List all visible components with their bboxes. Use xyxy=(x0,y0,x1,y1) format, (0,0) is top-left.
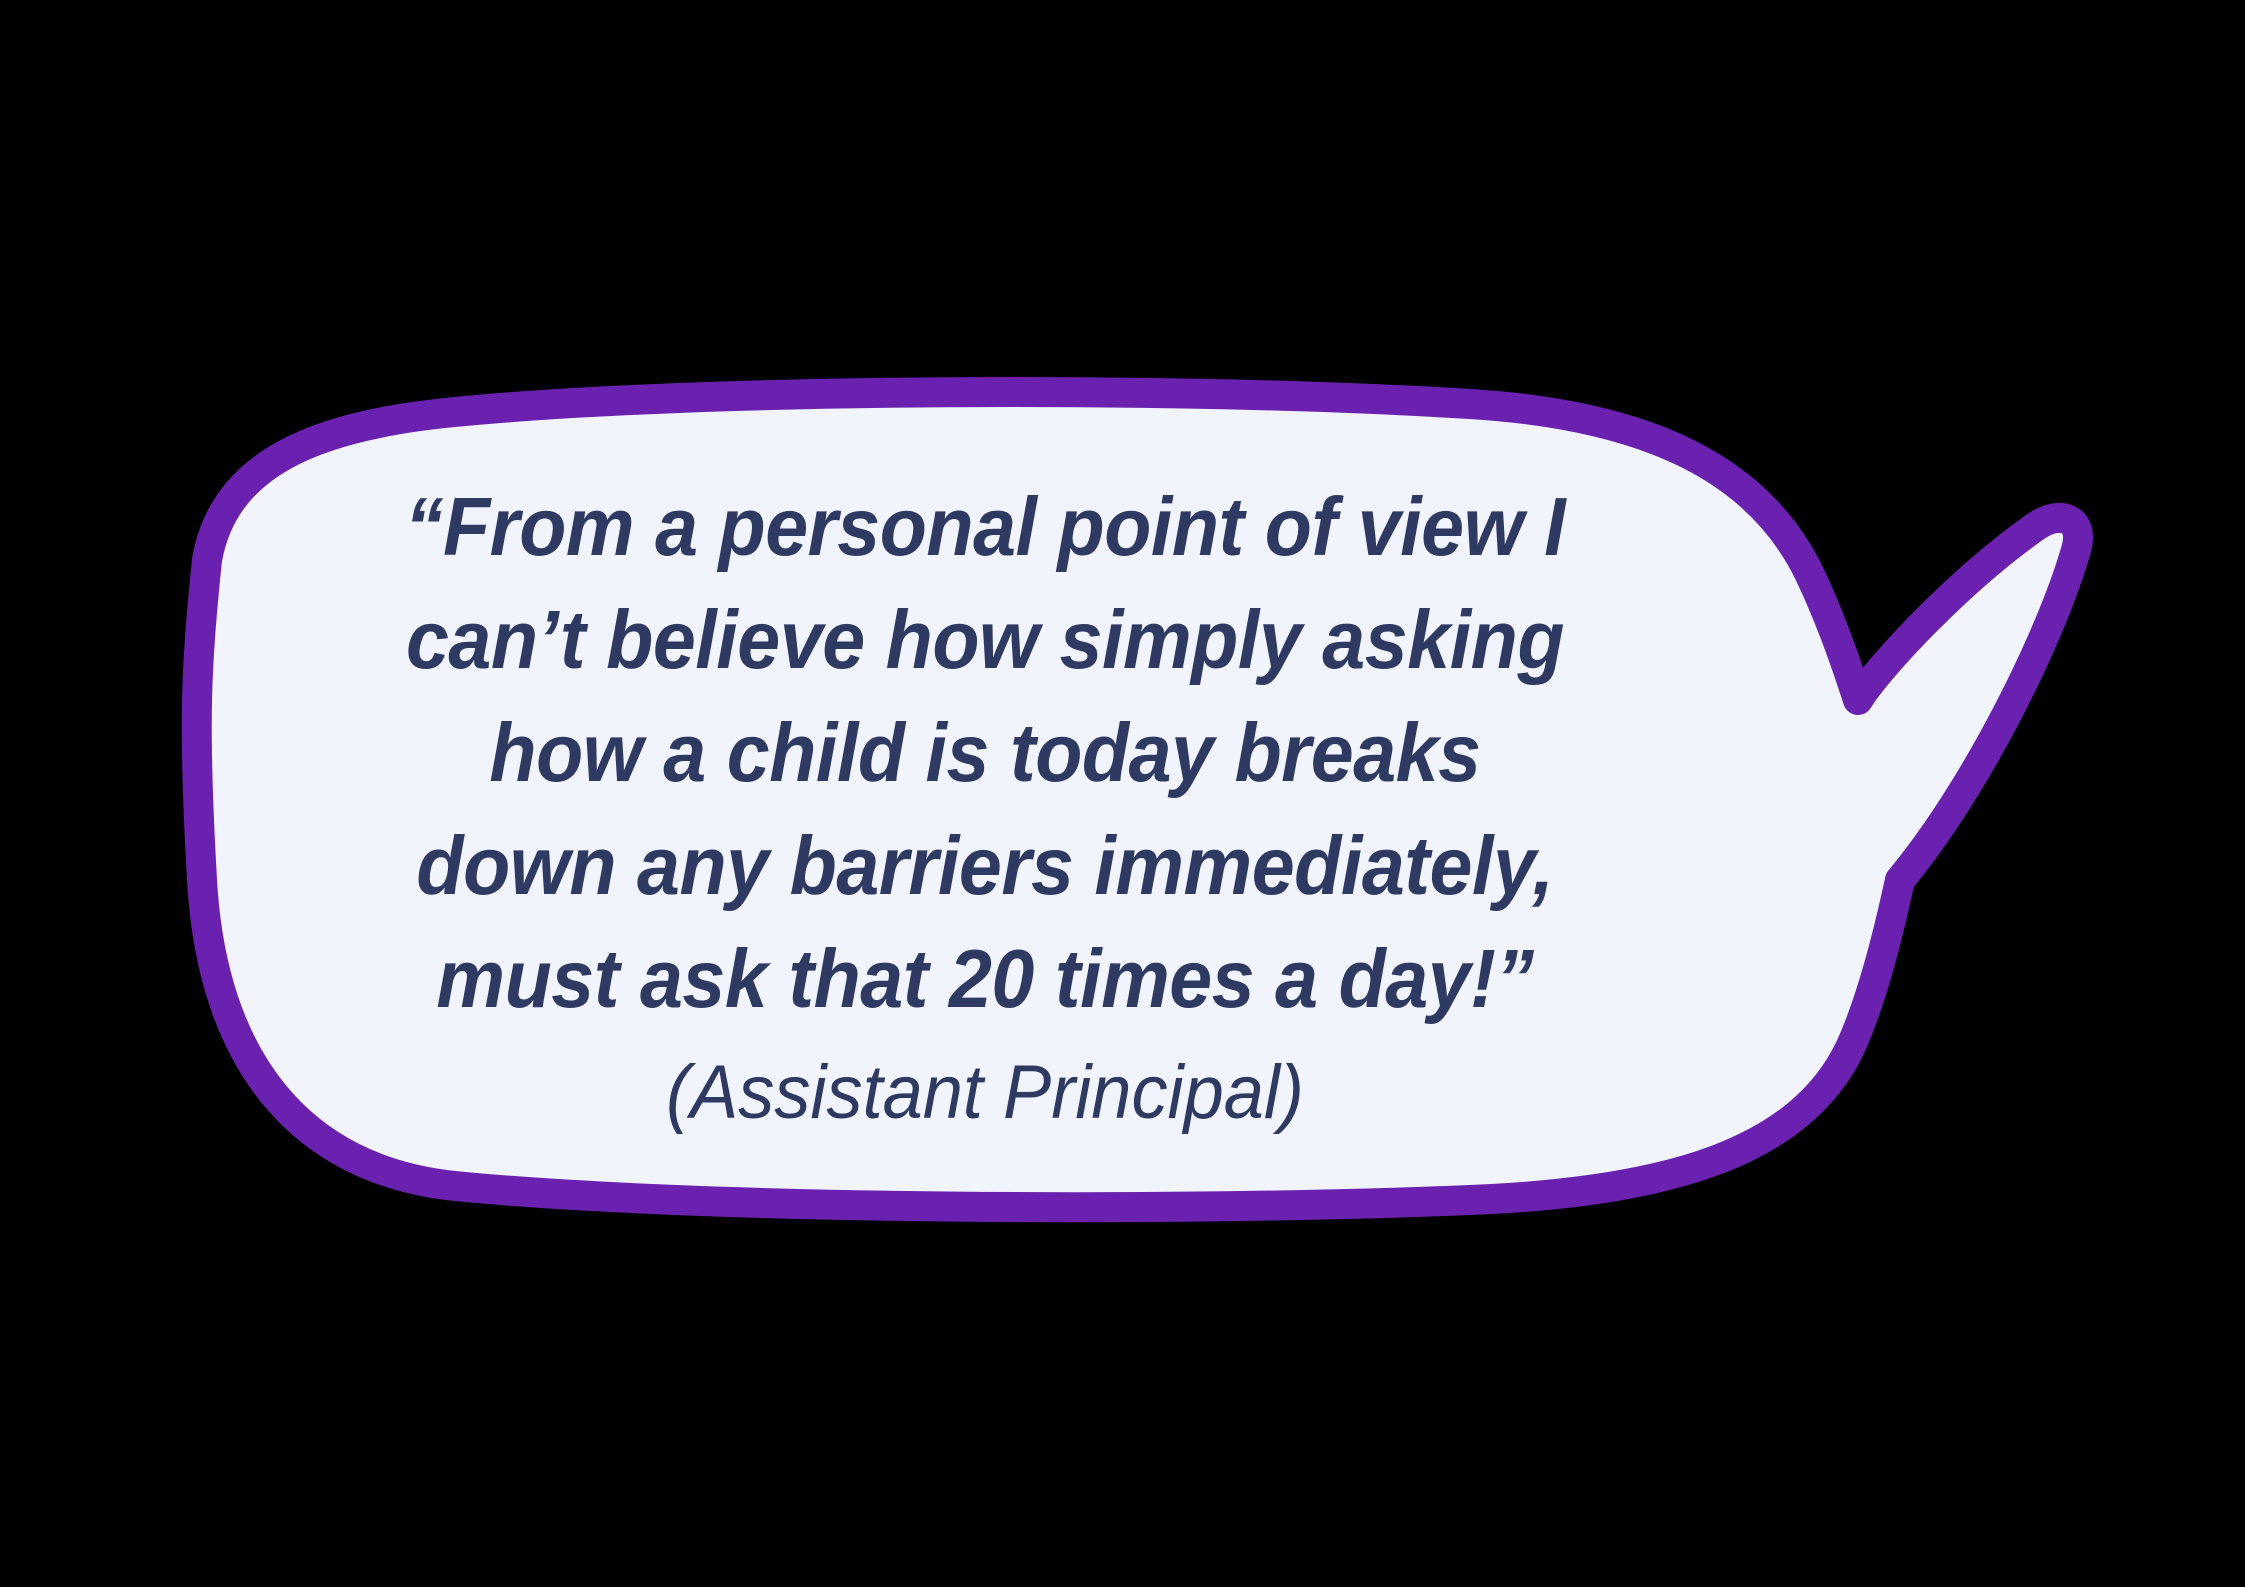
speech-bubble-outline-path xyxy=(197,392,2078,1207)
quote-graphic-canvas: “From a personal point of view I can’t b… xyxy=(0,0,2245,1587)
speech-bubble-shape xyxy=(0,0,2245,1587)
speech-bubble-group xyxy=(197,392,2078,1207)
